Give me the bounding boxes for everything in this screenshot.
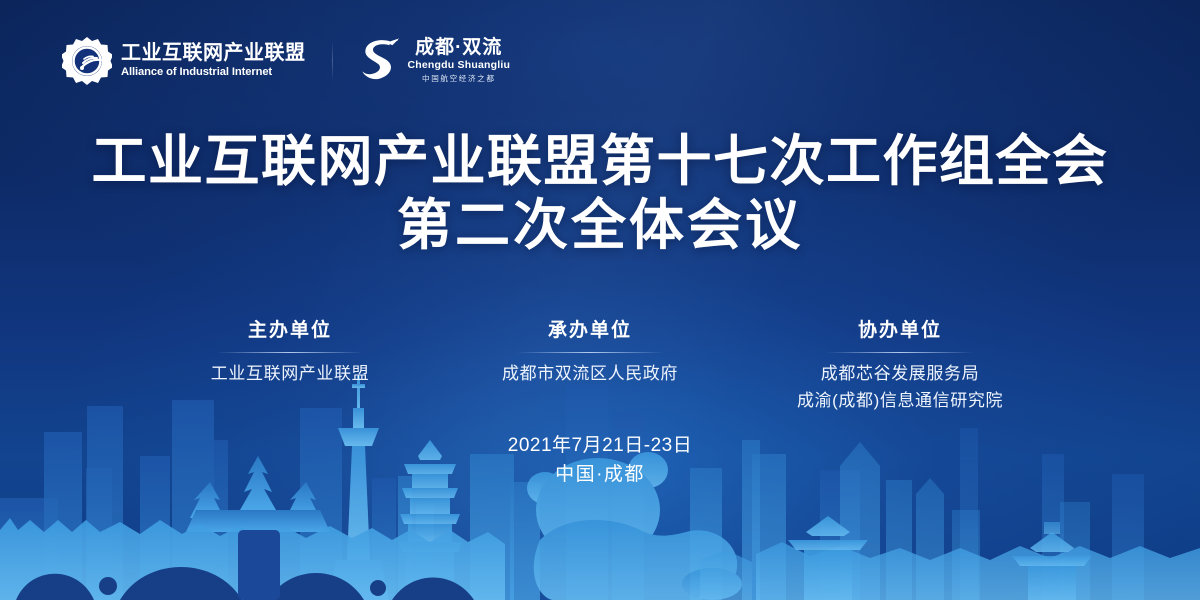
organizer-columns: 主办单位 工业互联网产业联盟 承办单位 成都市双流区人民政府 协办单位 成都芯谷…: [0, 320, 1200, 414]
organizer-name: 成都芯谷发展服务局: [740, 361, 1060, 387]
organizer-name: 成都市双流区人民政府: [440, 361, 740, 387]
swoosh-airplane-icon: [359, 37, 401, 85]
organizer-divider: [827, 352, 973, 354]
organizer-role-label: 协办单位: [740, 320, 1060, 343]
logo-bar: 工业互联网产业联盟 Alliance of Industrial Interne…: [62, 36, 510, 86]
organizer-undertaker: 承办单位 成都市双流区人民政府: [440, 320, 740, 388]
organizer-role-label: 主办单位: [140, 320, 440, 343]
organizer-coorganizer: 协办单位 成都芯谷发展服务局 成渝(成都)信息通信研究院: [740, 320, 1060, 414]
shuangliu-tagline: 中国航空经济之都: [422, 74, 496, 85]
logo-divider: [332, 41, 333, 81]
title-line-2: 第二次全体会议: [0, 194, 1200, 258]
gear-wifi-icon: [62, 36, 112, 86]
alliance-name-cn: 工业互联网产业联盟: [121, 42, 306, 64]
shuangliu-name-cn: 成都·双流: [415, 37, 502, 59]
title-line-1: 工业互联网产业联盟第十七次工作组全会: [0, 130, 1200, 194]
organizer-divider: [217, 352, 363, 354]
conference-banner: 工业互联网产业联盟 Alliance of Industrial Interne…: [0, 0, 1200, 600]
organizer-role-label: 承办单位: [440, 320, 740, 343]
organizer-name: 成渝(成都)信息通信研究院: [740, 388, 1060, 414]
alliance-logo: 工业互联网产业联盟 Alliance of Industrial Interne…: [62, 36, 306, 86]
gate-block: [238, 530, 280, 600]
event-meta: 2021年7月21日-23日 中国·成都: [0, 432, 1200, 489]
shuangliu-logo: 成都·双流 Chengdu Shuangliu 中国航空经济之都: [359, 37, 511, 85]
organizer-host: 主办单位 工业互联网产业联盟: [140, 320, 440, 388]
shuangliu-name-en: Chengdu Shuangliu: [408, 59, 511, 73]
alliance-name-en: Alliance of Industrial Internet: [121, 66, 306, 79]
event-location: 中国·成都: [0, 461, 1200, 490]
organizer-divider: [517, 352, 663, 354]
event-date: 2021年7月21日-23日: [0, 432, 1200, 461]
conference-title: 工业互联网产业联盟第十七次工作组全会 第二次全体会议: [0, 130, 1200, 258]
organizer-name: 工业互联网产业联盟: [140, 361, 440, 387]
